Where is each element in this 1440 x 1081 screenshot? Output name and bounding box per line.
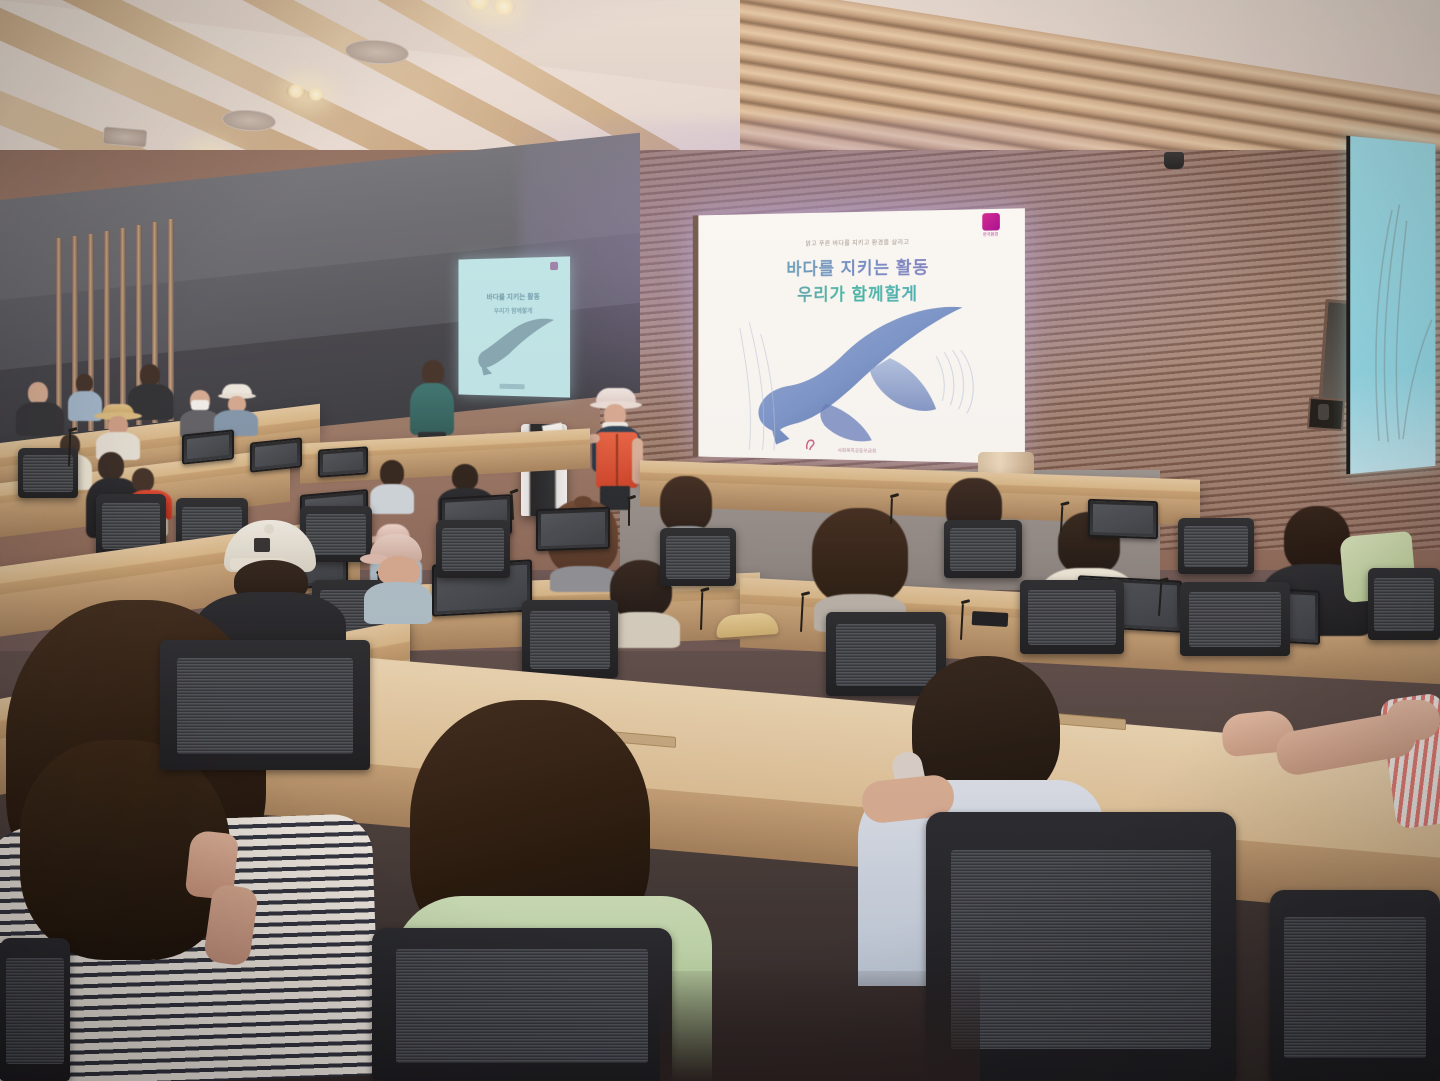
ceiling-spotlight [307,88,325,101]
chair[interactable] [1180,582,1290,656]
chair[interactable] [160,640,370,770]
ceiling-camera [1164,152,1184,169]
head [452,464,478,490]
ceiling-vent [102,126,147,148]
wall-fin [104,231,110,429]
hair-tie-icon [574,496,592,508]
wall-camera-lens-icon [1318,404,1329,420]
head [380,460,404,486]
left-projection-screen: 바다를 지키는 활동 우리가 함께할게 [458,256,570,397]
main-slide: 맑고 푸른 바다를 지키고 환경을 살리고 바다를 지키는 활동 우리가 함께할… [698,208,1025,463]
lecture-hall-photo: 맑고 푸른 바다를 지키고 환경을 살리고 바다를 지키는 활동 우리가 함께할… [0,0,1440,1081]
hair [660,476,712,532]
head [132,468,154,492]
floor-shadow [660,971,980,1081]
audience-man-straw-hat [94,404,142,458]
organization-logo-icon [982,213,1000,231]
organization-logo-caption: 한국환경 [973,231,1008,238]
head [28,382,48,404]
slide-title-line-1: 바다를 지키는 활동 [698,252,1025,281]
desk-monitor[interactable] [536,507,610,552]
cap-button-icon [264,524,274,534]
presenter-assistant-head [422,360,444,385]
chair[interactable] [1368,568,1440,640]
left-screen-logo-icon [550,262,558,270]
head [98,452,124,480]
desk-monitor[interactable] [182,429,234,464]
left-screen-whale-icon [471,316,562,379]
audience-girl-ponytail [370,460,414,512]
left-screen-title-line-1: 바다를 지키는 활동 [458,291,570,302]
ceiling-spotlight [286,84,306,98]
chair[interactable] [660,528,736,586]
desk-monitor[interactable] [318,446,368,477]
head [140,364,160,386]
audience-woman-white-bucket-hat [214,384,258,434]
slide-title-line-2: 우리가 함께할게 [698,278,1025,306]
chair[interactable] [1178,518,1254,574]
face-mask-icon [191,400,209,410]
desk-monitor[interactable] [1088,499,1158,539]
body [16,402,64,436]
wall-fin [120,228,126,427]
audience-woman-dark-hair-center [812,508,908,626]
presenter-vest-zip [616,434,618,486]
chair[interactable] [522,600,618,678]
chair[interactable] [944,520,1022,578]
presenter-main [582,388,644,510]
presenter-assistant-body [410,383,454,435]
desk-monitor[interactable] [250,437,302,472]
left-screen-footer-logo-icon [500,384,525,390]
audience-man-white-shirt [16,382,64,434]
hair [812,508,908,604]
chair[interactable] [436,520,510,578]
seaweed-icon [1350,136,1435,474]
chair[interactable] [0,938,70,1081]
chair[interactable] [372,928,672,1081]
chair[interactable] [1020,580,1124,654]
phone-on-desk [972,611,1009,627]
head [76,374,93,392]
left-screen-title-line-2: 우리가 함께할게 [458,306,570,316]
audience-hand-far-right [1386,700,1440,740]
chair[interactable] [1270,890,1440,1081]
cap-logo-icon [254,538,270,552]
body [370,484,414,514]
desk-microphone[interactable] [628,500,630,526]
main-projection-screen: 맑고 푸른 바다를 지키고 환경을 살리고 바다를 지키는 활동 우리가 함께할… [693,208,1025,463]
whale-illustration [734,299,994,459]
right-projection-screen [1346,136,1435,475]
head [1284,506,1350,572]
